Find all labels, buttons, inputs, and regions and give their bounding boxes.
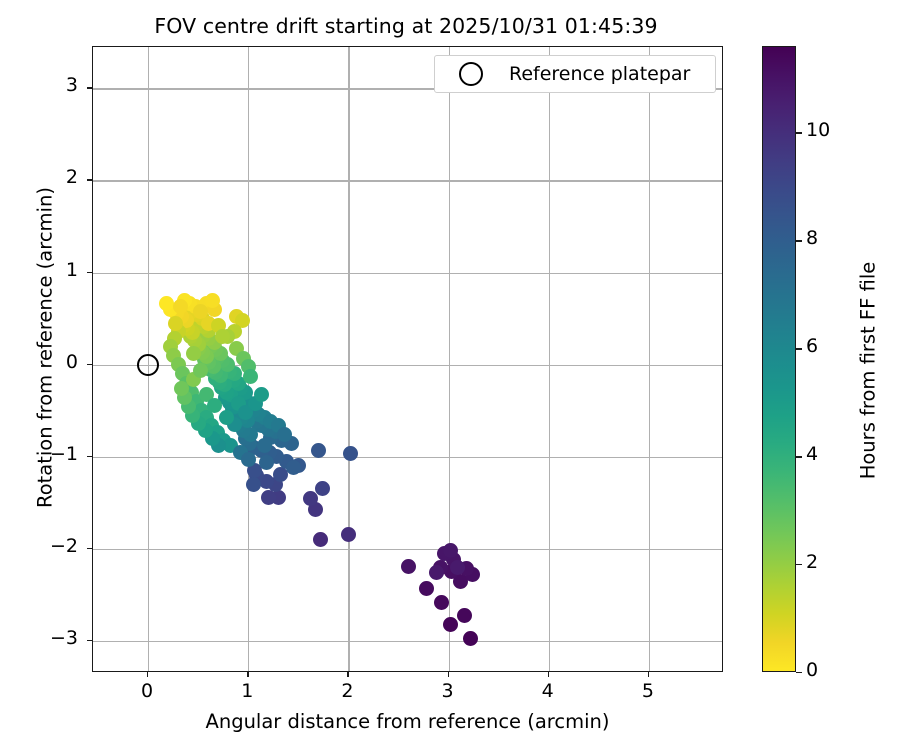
colorbar-tick	[796, 240, 802, 241]
y-axis-label: Rotation from reference (arcmin)	[34, 35, 57, 661]
colorbar-tick	[796, 456, 802, 457]
x-axis-tick	[147, 672, 148, 677]
colorbar-tick	[796, 564, 802, 565]
reference-platepar-marker	[137, 354, 159, 376]
colorbar-label: Hours from first FF file	[857, 58, 880, 684]
colorbar-tick	[796, 348, 802, 349]
x-axis-tick	[247, 672, 248, 677]
y-axis-tick	[87, 87, 92, 88]
colorbar-tick	[796, 132, 802, 133]
colorbar	[762, 46, 796, 672]
y-axis-tick	[87, 548, 92, 549]
page-title: FOV centre drift starting at 2025/10/31 …	[0, 14, 812, 38]
x-axis-tick-label: 2	[317, 680, 377, 702]
x-axis-tick-label: 3	[418, 680, 478, 702]
chart-root: FOV centre drift starting at 2025/10/31 …	[0, 0, 900, 750]
x-axis-tick	[448, 672, 449, 677]
y-axis-tick	[87, 179, 92, 180]
plot-axes-area	[92, 46, 723, 672]
x-axis-tick-label: 1	[217, 680, 277, 702]
x-axis-tick	[548, 672, 549, 677]
colorbar-tick-label: 10	[806, 119, 830, 141]
legend-marker-icon	[459, 62, 483, 86]
x-axis-tick-label: 0	[117, 680, 177, 702]
colorbar-tick-label: 0	[806, 659, 818, 681]
y-axis-tick	[87, 364, 92, 365]
colorbar-tick-label: 4	[806, 443, 818, 465]
colorbar-tick-label: 8	[806, 227, 818, 249]
y-axis-tick	[87, 640, 92, 641]
colorbar-tick	[796, 672, 802, 673]
legend: Reference platepar	[434, 55, 716, 93]
x-axis-tick-label: 5	[618, 680, 678, 702]
reference-marker-layer	[93, 47, 722, 671]
x-axis-label: Angular distance from reference (arcmin)	[92, 710, 723, 733]
y-axis-tick	[87, 456, 92, 457]
x-axis-tick	[648, 672, 649, 677]
x-axis-tick-label: 4	[518, 680, 578, 702]
legend-label: Reference platepar	[509, 63, 690, 85]
y-axis-tick	[87, 272, 92, 273]
colorbar-tick-label: 2	[806, 551, 818, 573]
x-axis-tick	[347, 672, 348, 677]
colorbar-tick-label: 6	[806, 335, 818, 357]
